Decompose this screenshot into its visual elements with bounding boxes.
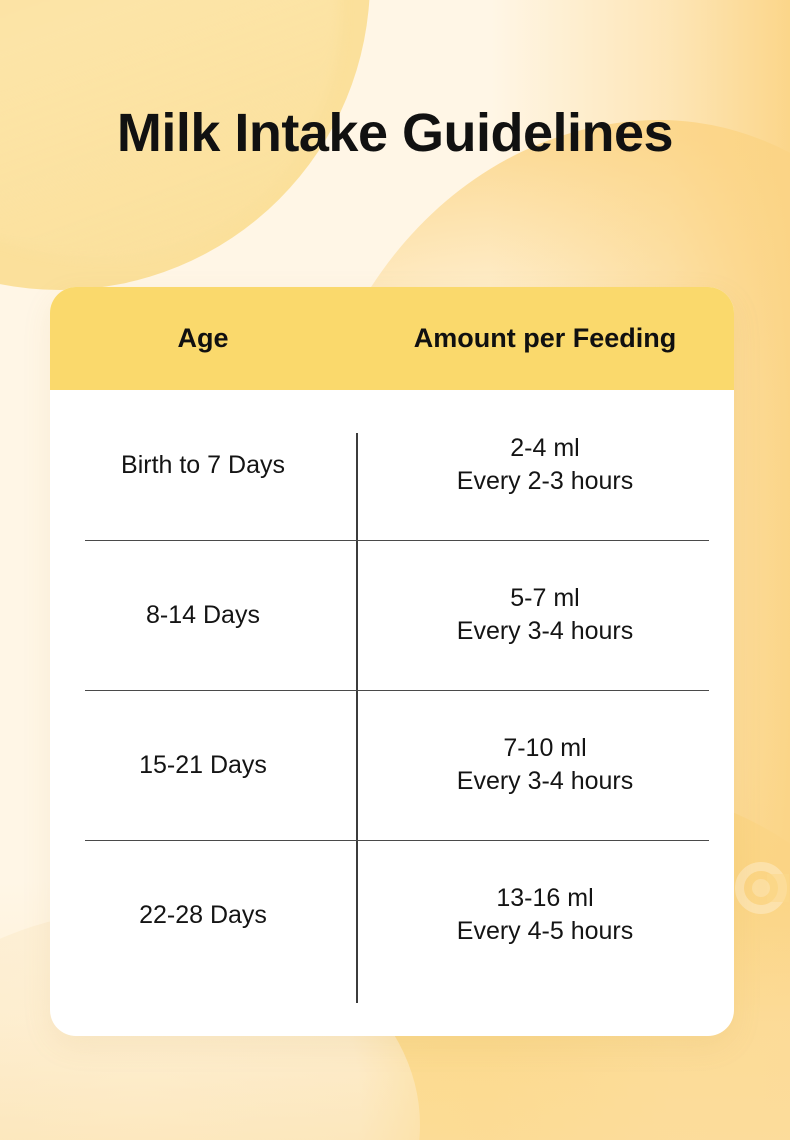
column-header-age: Age: [50, 323, 356, 354]
cell-amount: 2-4 ml Every 2-3 hours: [356, 432, 734, 498]
cell-age: 15-21 Days: [50, 751, 356, 780]
column-header-amount: Amount per Feeding: [356, 323, 734, 354]
cell-amount: 13-16 ml Every 4-5 hours: [356, 882, 734, 948]
watermark-notch: [767, 874, 789, 902]
cell-amount-volume: 7-10 ml: [356, 732, 734, 765]
cell-age: 22-28 Days: [50, 901, 356, 930]
guidelines-table-card: Age Amount per Feeding Birth to 7 Days 2…: [50, 287, 734, 1036]
cell-amount-frequency: Every 4-5 hours: [356, 915, 734, 948]
table-row: 8-14 Days 5-7 ml Every 3-4 hours: [50, 540, 734, 690]
table-row: Birth to 7 Days 2-4 ml Every 2-3 hours: [50, 390, 734, 540]
cell-amount-frequency: Every 2-3 hours: [356, 465, 734, 498]
watermark-dot: [752, 879, 770, 897]
cell-amount: 7-10 ml Every 3-4 hours: [356, 732, 734, 798]
table-row: 15-21 Days 7-10 ml Every 3-4 hours: [50, 690, 734, 840]
infographic-page: Milk Intake Guidelines Age Amount per Fe…: [0, 0, 790, 1140]
cell-amount-volume: 5-7 ml: [356, 582, 734, 615]
cell-amount-volume: 13-16 ml: [356, 882, 734, 915]
cell-age: 8-14 Days: [50, 601, 356, 630]
circle-c-watermark-icon: [735, 862, 787, 914]
page-title: Milk Intake Guidelines: [0, 104, 790, 163]
cell-amount-volume: 2-4 ml: [356, 432, 734, 465]
cell-age: Birth to 7 Days: [50, 451, 356, 480]
table-row: 22-28 Days 13-16 ml Every 4-5 hours: [50, 840, 734, 990]
cell-amount: 5-7 ml Every 3-4 hours: [356, 582, 734, 648]
cell-amount-frequency: Every 3-4 hours: [356, 615, 734, 648]
table-header-row: Age Amount per Feeding: [50, 287, 734, 390]
cell-amount-frequency: Every 3-4 hours: [356, 765, 734, 798]
table-body: Birth to 7 Days 2-4 ml Every 2-3 hours 8…: [50, 390, 734, 1036]
